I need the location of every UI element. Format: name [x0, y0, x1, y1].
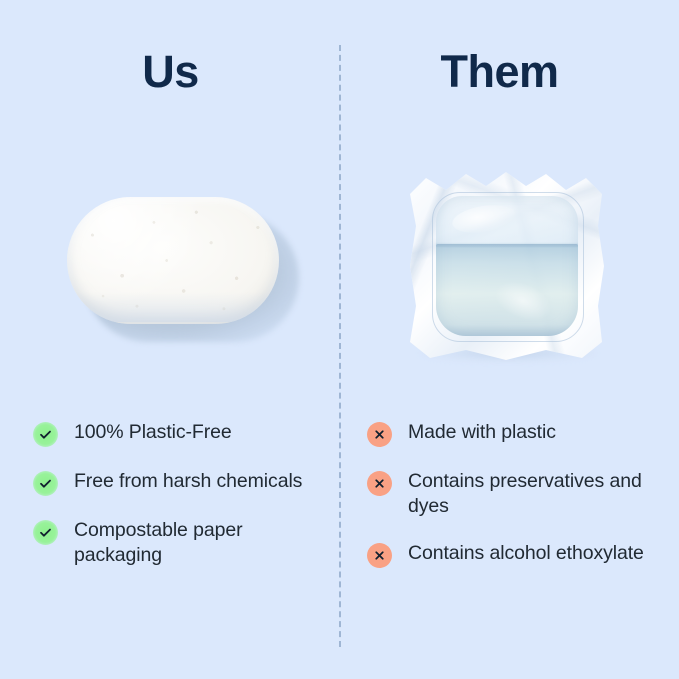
- cross-icon: [367, 543, 392, 568]
- list-item: Compostable paper packaging: [33, 518, 372, 568]
- list-item: Made with plastic: [367, 420, 679, 447]
- check-icon: [33, 471, 58, 496]
- check-icon: [33, 520, 58, 545]
- tablet-illustration: [62, 192, 297, 342]
- product-image-them: [340, 140, 679, 390]
- list-item: Contains alcohol ethoxylate: [367, 541, 679, 568]
- list-item: Contains preservatives and dyes: [367, 469, 679, 519]
- column-heading-them: Them: [330, 48, 669, 95]
- list-item-label: 100% Plastic-Free: [74, 420, 232, 445]
- pod-illustration: [406, 166, 606, 371]
- tablet-bottom-edge: [71, 292, 275, 322]
- comparison-graphic: Us 100% Plastic-Free: [0, 0, 679, 679]
- list-item-label: Compostable paper packaging: [74, 518, 329, 568]
- column-heading-us: Us: [1, 48, 340, 95]
- list-item: 100% Plastic-Free: [33, 420, 372, 447]
- tablet-body: [67, 197, 279, 324]
- list-item: Free from harsh chemicals: [33, 469, 372, 496]
- product-image-us: [0, 140, 339, 390]
- comparison-column-us: Us 100% Plastic-Free: [0, 0, 339, 679]
- feature-list-them: Made with plastic Contains preservatives…: [340, 420, 679, 568]
- list-item-label: Free from harsh chemicals: [74, 469, 302, 494]
- list-item-label: Contains preservatives and dyes: [408, 469, 670, 519]
- cross-icon: [367, 422, 392, 447]
- comparison-column-them: Them Made with pl: [340, 0, 679, 679]
- feature-list-us: 100% Plastic-Free Free from harsh chemic…: [0, 420, 372, 568]
- cross-icon: [367, 471, 392, 496]
- list-item-label: Contains alcohol ethoxylate: [408, 541, 644, 566]
- list-item-label: Made with plastic: [408, 420, 556, 445]
- check-icon: [33, 422, 58, 447]
